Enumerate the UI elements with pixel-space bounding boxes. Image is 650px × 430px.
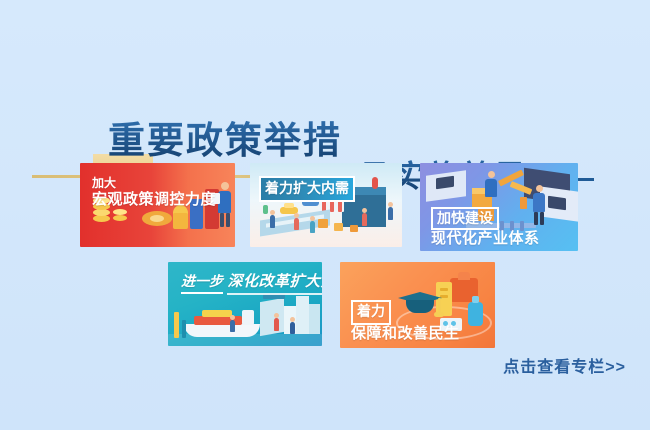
card-4-label-top: 进一步 [181, 273, 223, 294]
card-4-label-bottom: 深化改革扩大开放 [227, 273, 322, 295]
page-title-line1: 重要政策举措 [108, 118, 342, 162]
card-1-label-bottom: 宏观政策调控力度 [92, 191, 216, 210]
policy-banner: 重要政策举措 及实施效果 [0, 0, 650, 430]
policy-card-reform-opening[interactable]: 进一步 深化改革扩大开放 [168, 262, 322, 346]
policy-card-modern-industry[interactable]: 加快建设 现代化产业体系 [420, 163, 578, 251]
card-2-label-single: 着力扩大内需 [259, 176, 355, 202]
policy-card-livelihood[interactable]: 着力 保障和改善民生 [340, 262, 495, 348]
title-area: 重要政策举措 及实施效果 [0, 58, 650, 148]
policy-card-expand-demand[interactable]: 着力扩大内需 [250, 163, 402, 247]
card-3-label: 加快建设 现代化产业体系 [431, 207, 540, 249]
policy-card-macro-control[interactable]: 加大 宏观政策调控力度 [80, 163, 235, 247]
card-3-label-top: 加快建设 [431, 207, 499, 230]
card-5-label: 着力 保障和改善民生 [351, 300, 460, 343]
card-5-label-top: 着力 [351, 300, 391, 325]
view-column-link[interactable]: 点击查看专栏>> [503, 353, 626, 377]
card-4-label: 进一步 深化改革扩大开放 [181, 272, 322, 295]
card-2-label: 着力扩大内需 [259, 176, 355, 202]
card-3-label-bottom: 现代化产业体系 [431, 230, 540, 249]
card-1-label: 加大 宏观政策调控力度 [92, 176, 216, 210]
card-5-label-bottom: 保障和改善民生 [351, 325, 460, 344]
card-1-label-top: 加大 [92, 176, 216, 191]
